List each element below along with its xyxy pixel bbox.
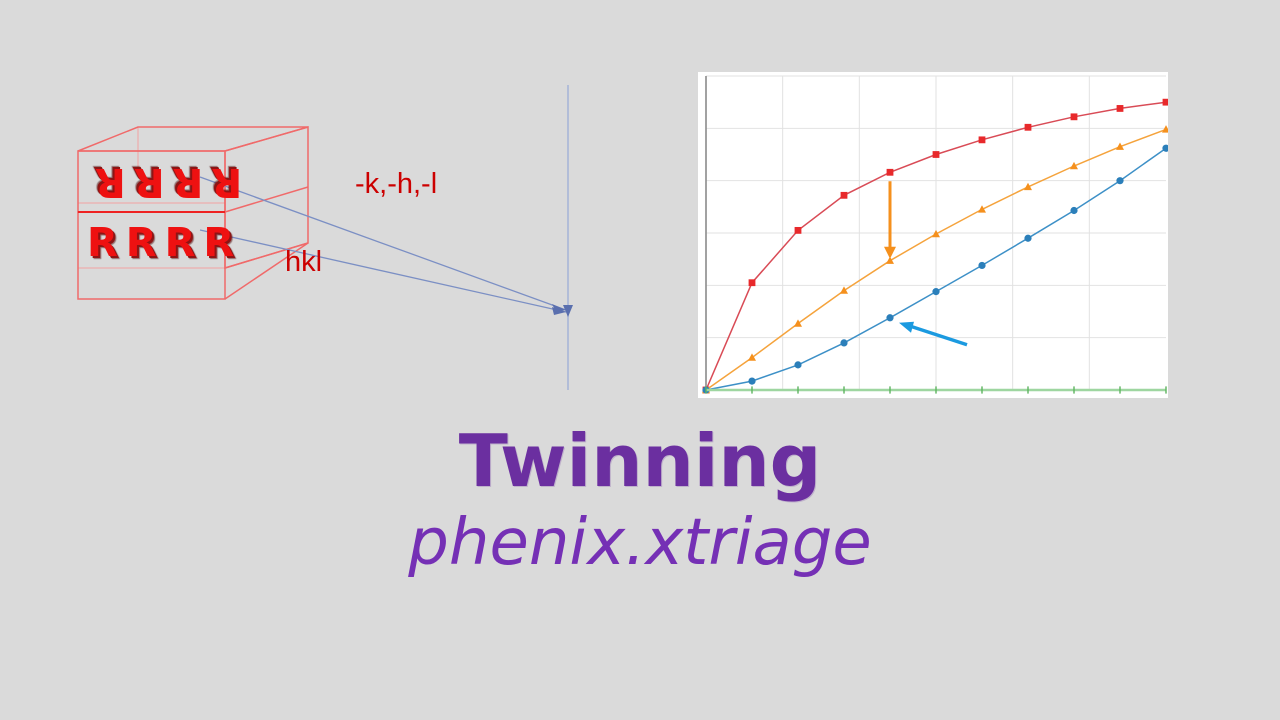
label-hkl: hkl: [285, 248, 322, 277]
chart-series-blue-circles: [702, 145, 1168, 394]
page-subtitle: phenix.xtriage: [0, 508, 1280, 578]
page-title: Twinning: [0, 425, 1280, 498]
slide-canvas: RRRR RRRR -k,-h,-l hkl Twinning phenix.x…: [0, 0, 1280, 720]
title-block: Twinning phenix.xtriage: [0, 425, 1280, 579]
chart-plot-area: [698, 72, 1168, 398]
orange-down-arrow: [884, 181, 896, 258]
crystal-diagram: RRRR RRRR -k,-h,-l hkl: [60, 125, 580, 415]
chart-svg: [698, 72, 1168, 398]
cumulative-intensity-chart: [690, 65, 1170, 405]
twin-domain-letters-top: RRRR: [87, 162, 242, 202]
chart-series-green-baseline: [706, 386, 1166, 393]
twin-domain-letters-bottom: RRRR: [87, 223, 242, 263]
blue-left-arrow: [899, 322, 967, 345]
chart-series-red-squares: [703, 99, 1168, 394]
label-minus-k-minus-h-minus-l: -k,-h,-l: [355, 170, 437, 199]
